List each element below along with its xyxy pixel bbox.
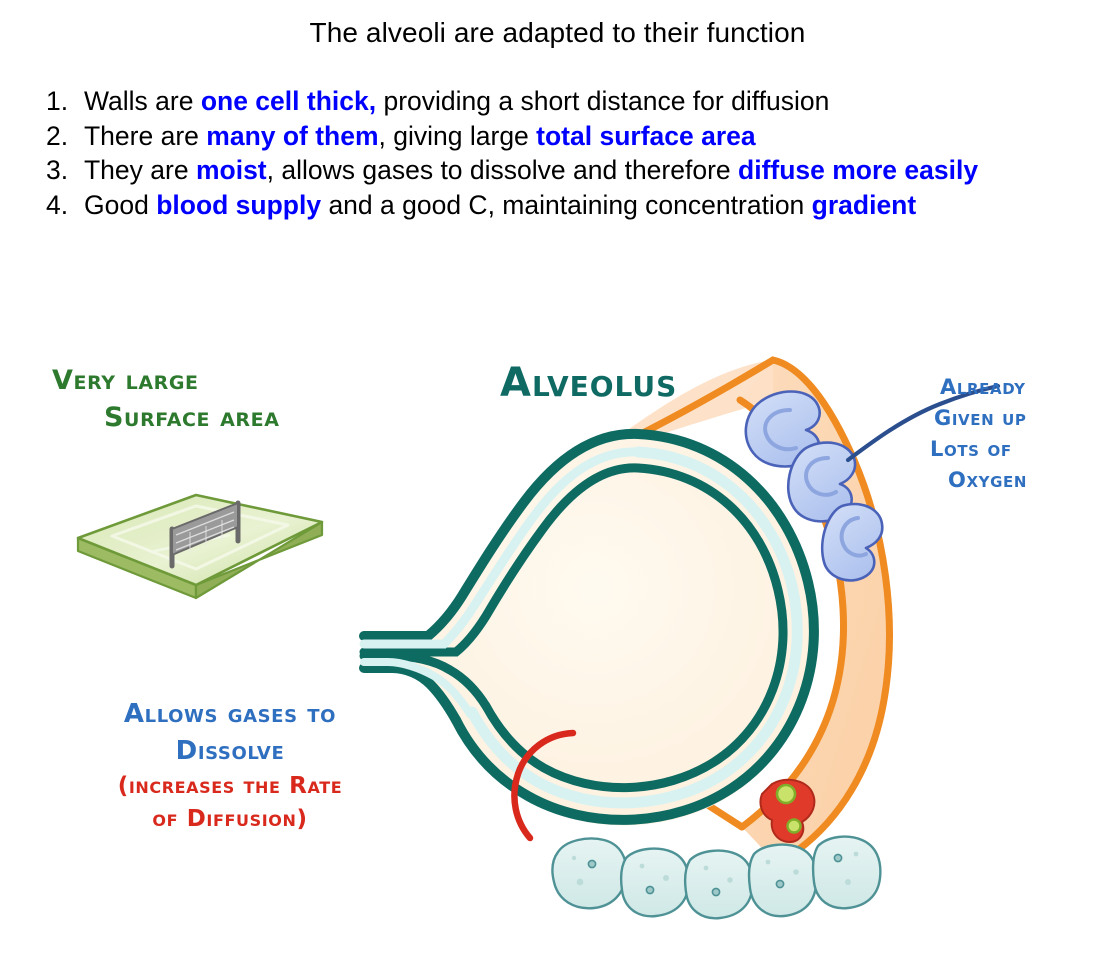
sports-field-icon [78, 495, 322, 598]
label-oxygen-line1: Already [930, 372, 1027, 403]
label-oxygen-line3: Lots of [930, 434, 1027, 465]
adaptation-key-term: diffuse more easily [738, 155, 978, 185]
adaptation-item: 4.Good blood supply and a good C, mainta… [44, 189, 1104, 223]
epithelial-cell [685, 851, 752, 919]
alveolus-sac [364, 430, 818, 825]
label-increases-rate-of-diffusion: (increases the Rate of Diffusion) [50, 770, 410, 836]
adaptation-text: , allows gases to dissolve and therefore [267, 155, 738, 185]
label-surface-area-line2: Surface area [52, 399, 280, 436]
adaptation-item-number: 4. [46, 189, 78, 223]
label-dissolve-line2: Dissolve [176, 736, 285, 766]
epithelial-cell-row [552, 837, 880, 919]
epithelial-cell [621, 849, 688, 917]
adaptation-key-term: blood supply [156, 190, 321, 220]
adaptation-text: and a good C, maintaining concentration [321, 190, 812, 220]
epithelial-cell [749, 845, 816, 917]
alveolus-illustration: Very large Surface area Allows gases to … [0, 330, 1115, 976]
adaptation-key-term: moist [196, 155, 267, 185]
adaptation-key-term: one cell thick, [201, 86, 376, 116]
epithelial-cell [813, 837, 880, 909]
adaptation-item-number: 2. [46, 120, 78, 154]
adaptation-text: providing a short distance for diffusion [376, 86, 829, 116]
label-rate-line1: (increases the Rate [118, 773, 343, 799]
adaptation-item: 3.They are moist, allows gases to dissol… [44, 154, 1104, 188]
adaptations-list: 1.Walls are one cell thick, providing a … [44, 85, 1104, 223]
adaptation-text: Good [84, 190, 156, 220]
red-blood-cell-3 [822, 504, 882, 580]
label-dissolve-line1: Allows gases to [124, 699, 336, 729]
adaptation-key-term: many of them [206, 121, 378, 151]
page-title: The alveoli are adapted to their functio… [0, 16, 1115, 50]
adaptation-item-number: 1. [46, 85, 78, 119]
label-allows-gases-to-dissolve: Allows gases to Dissolve [56, 696, 404, 770]
epithelial-cell [552, 839, 626, 909]
adaptation-key-term: total surface area [536, 121, 755, 151]
adaptation-text: Walls are [84, 86, 201, 116]
label-very-large-surface-area: Very large Surface area [52, 362, 280, 436]
adaptation-text: There are [84, 121, 206, 151]
adaptation-item: 1.Walls are one cell thick, providing a … [44, 85, 1104, 119]
label-already-given-up-lots-of-oxygen: Already Given up Lots of Oxygen [930, 372, 1027, 496]
label-alveolus: Alveolus [500, 360, 677, 406]
adaptation-item-number: 3. [46, 154, 78, 188]
adaptation-key-term: gradient [812, 190, 917, 220]
label-surface-area-line1: Very large [52, 365, 199, 396]
label-oxygen-line2: Given up [930, 403, 1027, 434]
adaptation-text: , giving large [379, 121, 537, 151]
label-rate-line2: of Diffusion) [152, 806, 307, 832]
adaptation-text: They are [84, 155, 196, 185]
label-oxygen-line4: Oxygen [930, 465, 1027, 496]
adaptation-item: 2.There are many of them, giving large t… [44, 120, 1104, 154]
